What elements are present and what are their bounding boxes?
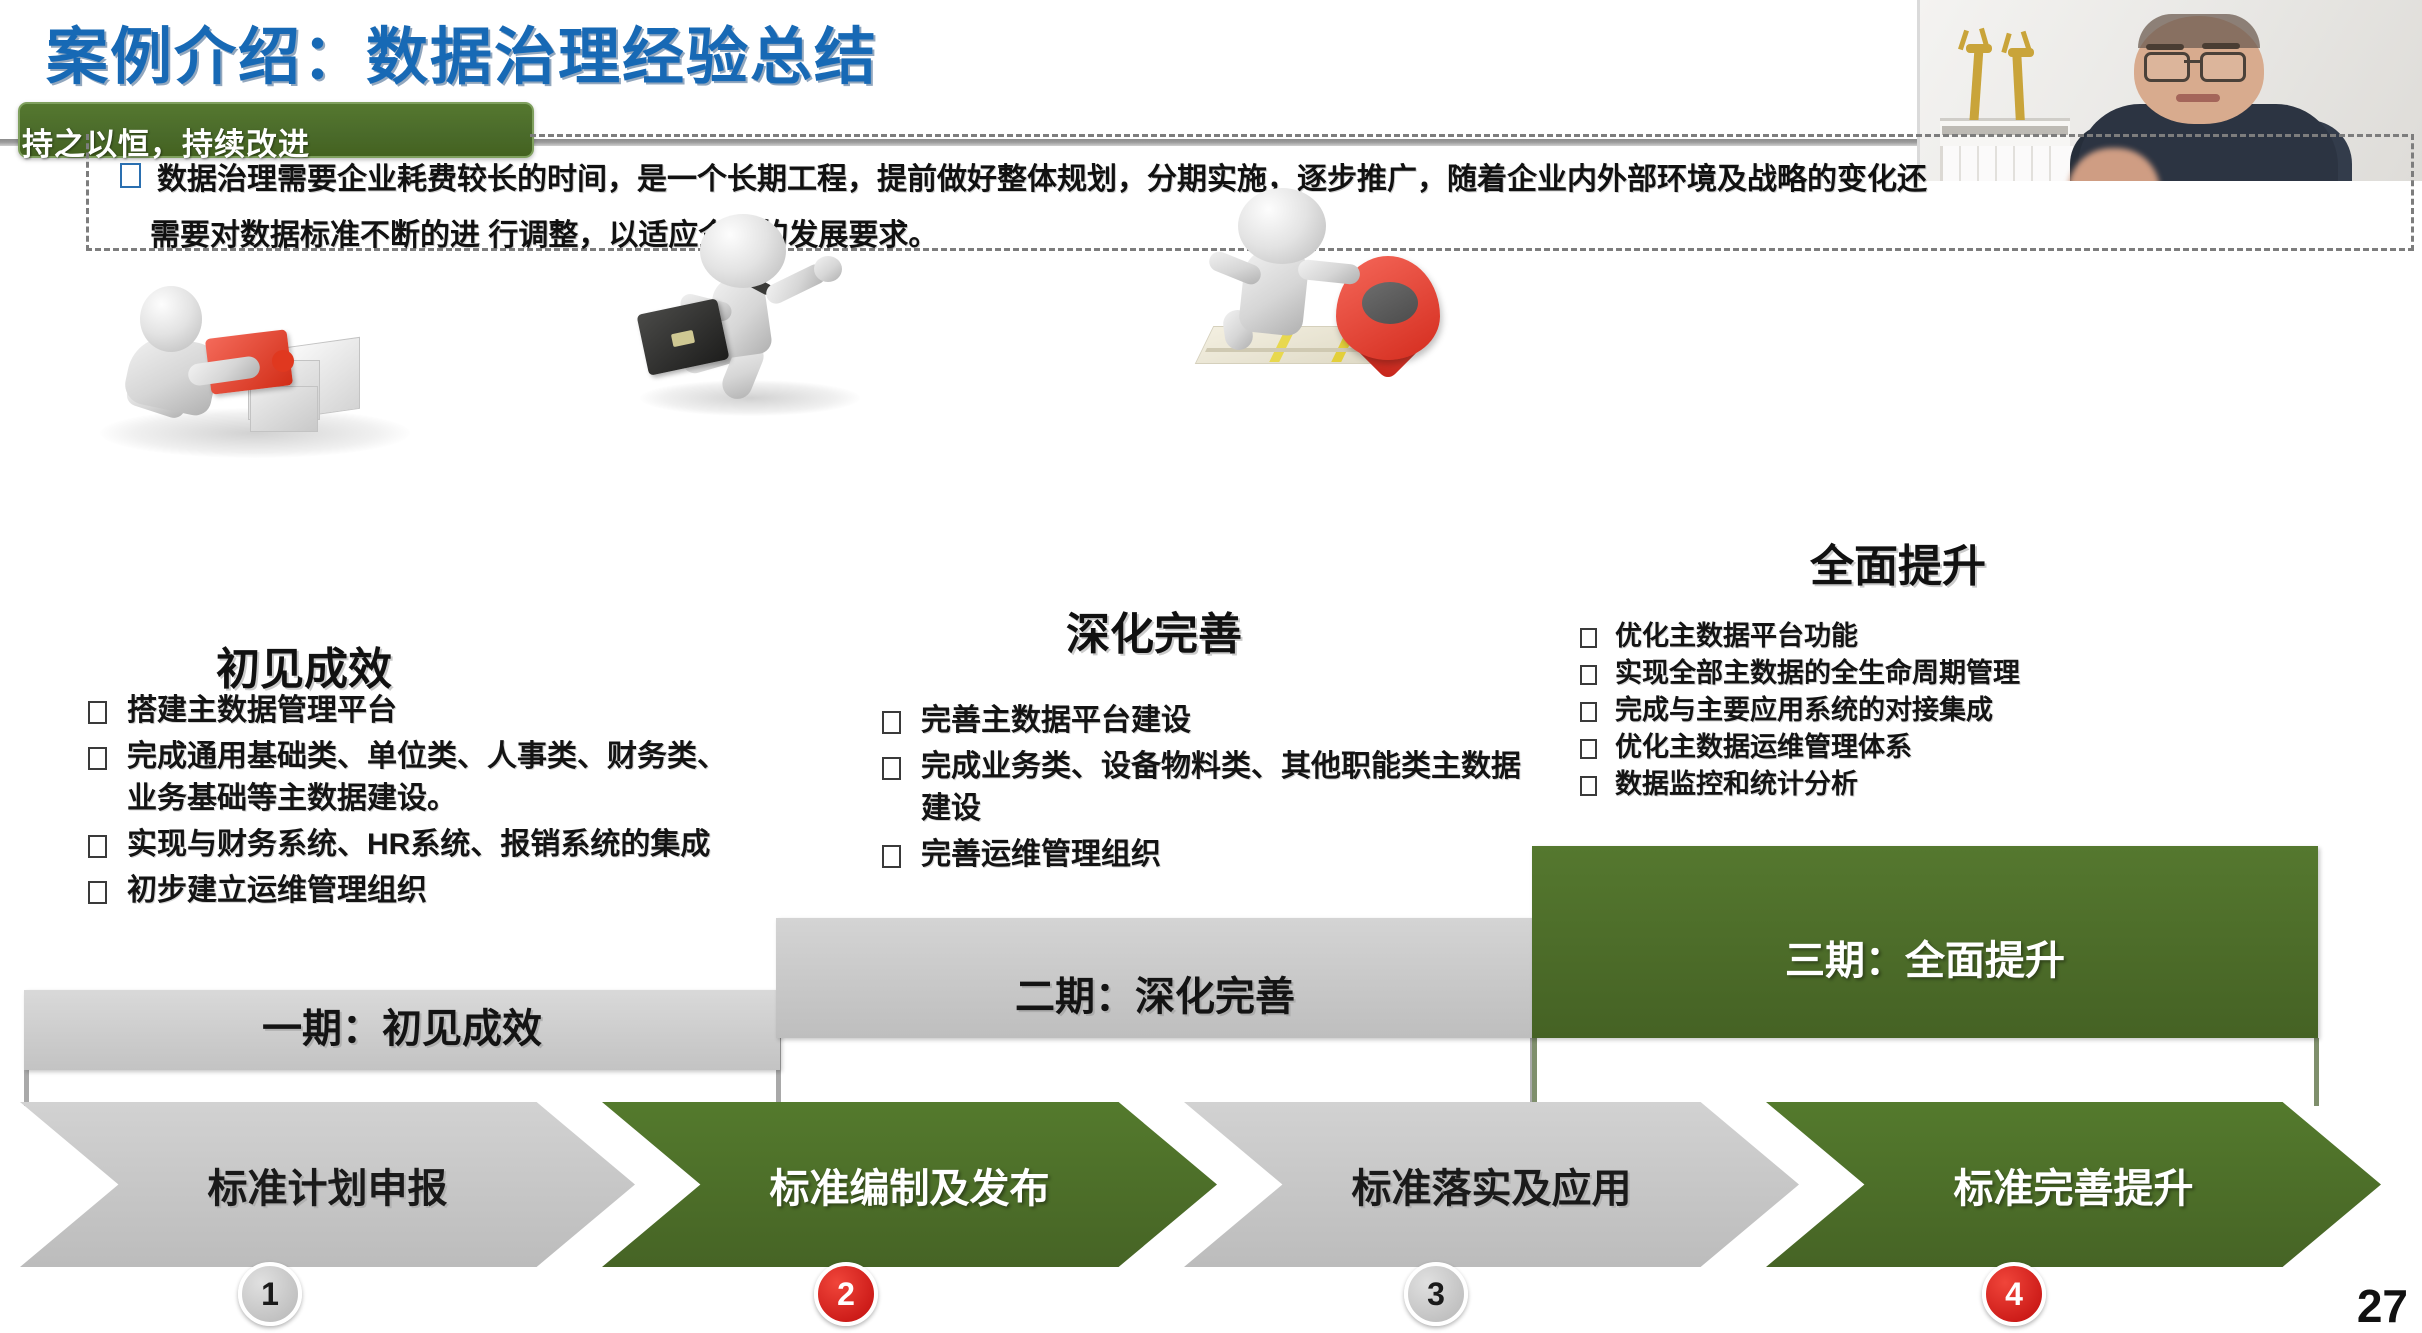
phase-banner-1-label: 一期：初见成效 xyxy=(262,996,542,1070)
list-item-label: 完善运维管理组织 xyxy=(921,834,1161,876)
list-item: 数据监控和统计分析 xyxy=(1580,766,2340,803)
banner-leg xyxy=(24,1070,29,1106)
list-item: 实现与财务系统、HR系统、报销系统的集成 xyxy=(88,824,728,866)
phase-banner-2[interactable]: 二期：深化完善 xyxy=(776,918,1534,1038)
list-item-label: 实现与财务系统、HR系统、报销系统的集成 xyxy=(127,824,710,866)
process-step-1-label: 标准计划申报 xyxy=(208,1156,448,1214)
bullet-square-icon xyxy=(1580,665,1597,685)
process-step-3-label: 标准落实及应用 xyxy=(1352,1156,1632,1214)
list-item: 搭建主数据管理平台 xyxy=(88,690,728,732)
list-item-label: 数据监控和统计分析 xyxy=(1615,766,1858,803)
bullet-square-icon xyxy=(88,747,107,770)
person-puzzle-icon xyxy=(100,268,420,458)
process-step-4[interactable]: 标准完善提升 xyxy=(1766,1102,2381,1267)
presenter-eyebrow-right xyxy=(2202,43,2240,49)
list-item-label: 实现全部主数据的全生命周期管理 xyxy=(1615,655,2020,692)
presenter-mouth xyxy=(2176,94,2220,102)
stage-heading-3: 全面提升 xyxy=(1810,530,1986,594)
figure-head xyxy=(140,286,202,352)
list-item-label: 完善主数据平台建设 xyxy=(921,700,1191,742)
stage-3-bullet-list: 优化主数据平台功能 实现全部主数据的全生命周期管理 完成与主要应用系统的对接集成… xyxy=(1580,618,2340,803)
bullet-square-icon xyxy=(882,711,901,734)
phase-banner-1[interactable]: 一期：初见成效 xyxy=(24,990,780,1070)
process-step-4-label: 标准完善提升 xyxy=(1954,1156,2194,1214)
list-item-label: 优化主数据运维管理体系 xyxy=(1615,729,1912,766)
process-step-2[interactable]: 标准编制及发布 xyxy=(602,1102,1217,1267)
presenter-hair xyxy=(2138,14,2260,48)
step-badge-3: 3 xyxy=(1404,1262,1468,1326)
bullet-square-icon xyxy=(120,163,141,188)
bullet-square-icon xyxy=(882,845,901,868)
stage-2-bullet-list: 完善主数据平台建设 完成业务类、设备物料类、其他职能类主数据建设 完善运维管理组… xyxy=(882,700,1522,880)
bullet-square-icon xyxy=(88,835,107,858)
list-item-label: 初步建立运维管理组织 xyxy=(127,870,427,912)
glasses-lens-left-icon xyxy=(2144,52,2190,82)
list-item: 完成与主要应用系统的对接集成 xyxy=(1580,692,2340,729)
person-running-briefcase-icon xyxy=(636,214,866,414)
process-step-2-label: 标准编制及发布 xyxy=(770,1156,1050,1214)
bullet-square-icon xyxy=(88,701,107,724)
list-item-label: 优化主数据平台功能 xyxy=(1615,618,1858,655)
process-step-3[interactable]: 标准落实及应用 xyxy=(1184,1102,1799,1267)
banner-leg xyxy=(1532,1038,1537,1106)
stage-1-bullet-list: 搭建主数据管理平台 完成通用基础类、单位类、人事类、财务类、业务基础等主数据建设… xyxy=(88,690,728,916)
page-title: 案例介绍：数据治理经验总结 xyxy=(46,6,878,96)
phase-banner-3-label: 三期：全面提升 xyxy=(1785,928,2065,1038)
step-badge-1: 1 xyxy=(238,1262,302,1326)
list-item: 优化主数据运维管理体系 xyxy=(1580,729,2340,766)
phase-banner-2-label: 二期：深化完善 xyxy=(1015,964,1295,1038)
person-map-pin-icon xyxy=(1190,186,1480,368)
glasses-bridge-icon xyxy=(2184,60,2202,63)
bullet-square-icon xyxy=(1580,702,1597,722)
step-badge-4: 4 xyxy=(1982,1262,2046,1326)
presentation-slide: 案例介绍：数据治理经验总结 持之以恒，持续改进 数据治理需要企 xyxy=(0,0,2422,1329)
figure-head xyxy=(1238,188,1326,264)
bullet-square-icon xyxy=(1580,628,1597,648)
list-item-label: 完成与主要应用系统的对接集成 xyxy=(1615,692,1993,729)
figure-fist xyxy=(814,256,842,282)
red-puzzle-knob xyxy=(272,350,294,372)
presenter-eyebrow-left xyxy=(2146,44,2184,50)
list-item: 完成业务类、设备物料类、其他职能类主数据建设 xyxy=(882,746,1522,830)
list-item: 完成通用基础类、单位类、人事类、财务类、业务基础等主数据建设。 xyxy=(88,736,728,820)
bullet-square-icon xyxy=(1580,776,1597,796)
map-pin-hole-icon xyxy=(1362,282,1418,324)
list-item-label: 完成业务类、设备物料类、其他职能类主数据建设 xyxy=(921,746,1522,830)
list-item: 优化主数据平台功能 xyxy=(1580,618,2340,655)
phase-banner-3[interactable]: 三期：全面提升 xyxy=(1532,846,2318,1038)
bullet-square-icon xyxy=(882,757,901,780)
figure-head xyxy=(700,214,786,288)
bullet-square-icon xyxy=(1580,739,1597,759)
list-item: 完善主数据平台建设 xyxy=(882,700,1522,742)
list-item: 初步建立运维管理组织 xyxy=(88,870,728,912)
list-item-label: 搭建主数据管理平台 xyxy=(127,690,397,732)
bullet-square-icon xyxy=(88,881,107,904)
callout-box-top-edge xyxy=(530,134,2408,137)
page-number: 27 xyxy=(2357,1279,2408,1333)
process-step-1[interactable]: 标准计划申报 xyxy=(20,1102,635,1267)
list-item-label: 完成通用基础类、单位类、人事类、财务类、业务基础等主数据建设。 xyxy=(127,736,728,820)
puzzle-cube xyxy=(250,386,318,432)
stage-heading-1: 初见成效 xyxy=(216,633,392,697)
list-item: 完善运维管理组织 xyxy=(882,834,1522,876)
banner-leg xyxy=(2314,1038,2319,1106)
callout-line-1: 数据治理需要企业耗费较长的时间，是一个长期工程，提前做好整体规划，分期实施，逐步… xyxy=(157,163,1927,196)
list-item: 实现全部主数据的全生命周期管理 xyxy=(1580,655,2340,692)
step-badge-2: 2 xyxy=(814,1262,878,1326)
glasses-lens-right-icon xyxy=(2200,52,2246,82)
stage-heading-2: 深化完善 xyxy=(1066,598,1242,662)
